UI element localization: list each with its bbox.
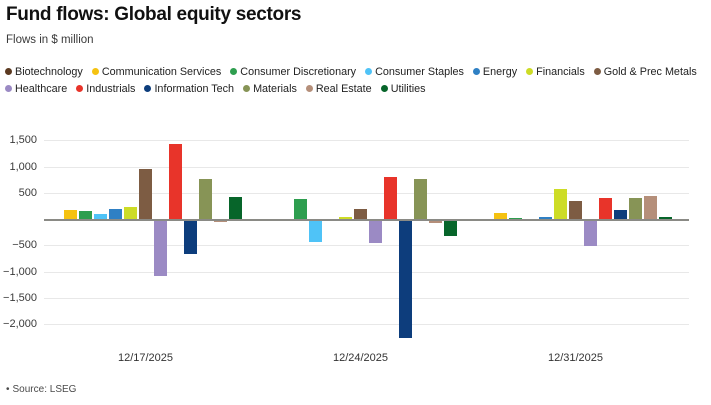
bar[interactable] bbox=[124, 207, 137, 219]
y-axis-tick-label: −2,000 bbox=[0, 318, 37, 330]
legend-item[interactable]: Consumer Discretionary bbox=[230, 64, 356, 81]
legend-item-label: Materials bbox=[253, 83, 297, 95]
legend-swatch-icon bbox=[144, 85, 151, 92]
legend-swatch-icon bbox=[243, 85, 250, 92]
x-axis-tick-label: 12/24/2025 bbox=[333, 352, 388, 364]
legend-item-label: Communication Services bbox=[102, 66, 221, 78]
legend-item-label: Industrials bbox=[86, 83, 135, 95]
legend-item-label: Healthcare bbox=[15, 83, 67, 95]
page-title: Fund flows: Global equity sectors bbox=[6, 4, 301, 26]
bar[interactable] bbox=[369, 219, 382, 243]
bar-group bbox=[49, 130, 242, 345]
bar[interactable] bbox=[629, 198, 642, 219]
y-axis-tick-label: −1,000 bbox=[0, 266, 37, 278]
legend-swatch-icon bbox=[473, 68, 480, 75]
legend-swatch-icon bbox=[365, 68, 372, 75]
bar[interactable] bbox=[154, 219, 167, 276]
bar-group bbox=[264, 130, 457, 345]
legend-item-label: Consumer Staples bbox=[375, 66, 464, 78]
legend-item-label: Gold & Prec Metals bbox=[604, 66, 697, 78]
bar-group bbox=[479, 130, 672, 345]
chart-legend: BiotechnologyCommunication ServicesConsu… bbox=[5, 64, 711, 99]
bar[interactable] bbox=[599, 198, 612, 219]
legend-item[interactable]: Information Tech bbox=[144, 81, 234, 98]
bar[interactable] bbox=[554, 189, 567, 219]
plot-area: 1,5001,000500−500−1,000−1,500−2,000 12/1… bbox=[44, 130, 689, 345]
bar[interactable] bbox=[184, 219, 197, 254]
y-axis-tick-label: 1,500 bbox=[0, 134, 37, 146]
legend-swatch-icon bbox=[92, 68, 99, 75]
legend-item-label: Consumer Discretionary bbox=[240, 66, 356, 78]
bar[interactable] bbox=[444, 219, 457, 236]
legend-item[interactable]: Materials bbox=[243, 81, 297, 98]
legend-item[interactable]: Biotechnology bbox=[5, 64, 83, 81]
bar[interactable] bbox=[644, 196, 657, 220]
bar[interactable] bbox=[399, 219, 412, 338]
legend-item[interactable]: Healthcare bbox=[5, 81, 67, 98]
legend-item-label: Real Estate bbox=[316, 83, 372, 95]
bar[interactable] bbox=[229, 197, 242, 219]
bar[interactable] bbox=[384, 177, 397, 219]
bar[interactable] bbox=[109, 209, 122, 219]
bar[interactable] bbox=[414, 179, 427, 219]
legend-item[interactable]: Consumer Staples bbox=[365, 64, 464, 81]
bar-groups bbox=[44, 130, 689, 345]
bar[interactable] bbox=[309, 219, 322, 242]
bar[interactable] bbox=[294, 199, 307, 219]
legend-item[interactable]: Communication Services bbox=[92, 64, 221, 81]
legend-swatch-icon bbox=[526, 68, 533, 75]
y-axis-tick-label: 1,000 bbox=[0, 161, 37, 173]
legend-item-label: Energy bbox=[483, 66, 517, 78]
legend-item-label: Utilities bbox=[391, 83, 426, 95]
legend-item-label: Biotechnology bbox=[15, 66, 83, 78]
source-note: •Source: LSEG bbox=[6, 384, 76, 395]
legend-item-label: Information Tech bbox=[154, 83, 234, 95]
bar[interactable] bbox=[79, 211, 92, 219]
legend-item-label: Financials bbox=[536, 66, 585, 78]
legend-swatch-icon bbox=[5, 68, 12, 75]
bar[interactable] bbox=[169, 144, 182, 220]
bar[interactable] bbox=[139, 169, 152, 219]
bar[interactable] bbox=[569, 201, 582, 219]
legend-item[interactable]: Industrials bbox=[76, 81, 135, 98]
legend-item[interactable]: Real Estate bbox=[306, 81, 372, 98]
bar[interactable] bbox=[64, 210, 77, 219]
legend-swatch-icon bbox=[76, 85, 83, 92]
zero-axis-line bbox=[44, 219, 689, 221]
bar[interactable] bbox=[199, 179, 212, 219]
legend-swatch-icon bbox=[230, 68, 237, 75]
legend-item[interactable]: Financials bbox=[526, 64, 585, 81]
bullet-glyph: • bbox=[6, 384, 10, 395]
legend-swatch-icon bbox=[381, 85, 388, 92]
bar[interactable] bbox=[354, 209, 367, 219]
legend-item[interactable]: Utilities bbox=[381, 81, 426, 98]
legend-swatch-icon bbox=[594, 68, 601, 75]
y-axis-tick-label: −500 bbox=[0, 239, 37, 251]
y-axis-tick-label: −1,500 bbox=[0, 292, 37, 304]
chart-subtitle: Flows in $ million bbox=[6, 34, 94, 46]
legend-item[interactable]: Energy bbox=[473, 64, 517, 81]
y-axis-tick-label: 500 bbox=[0, 187, 37, 199]
bar[interactable] bbox=[584, 219, 597, 246]
legend-item[interactable]: Gold & Prec Metals bbox=[594, 64, 697, 81]
legend-swatch-icon bbox=[306, 85, 313, 92]
x-axis-tick-label: 12/17/2025 bbox=[118, 352, 173, 364]
chart-page: Fund flows: Global equity sectors Flows … bbox=[0, 0, 711, 405]
source-text: Source: LSEG bbox=[13, 384, 77, 395]
x-axis-tick-label: 12/31/2025 bbox=[548, 352, 603, 364]
legend-swatch-icon bbox=[5, 85, 12, 92]
bar[interactable] bbox=[614, 210, 627, 219]
